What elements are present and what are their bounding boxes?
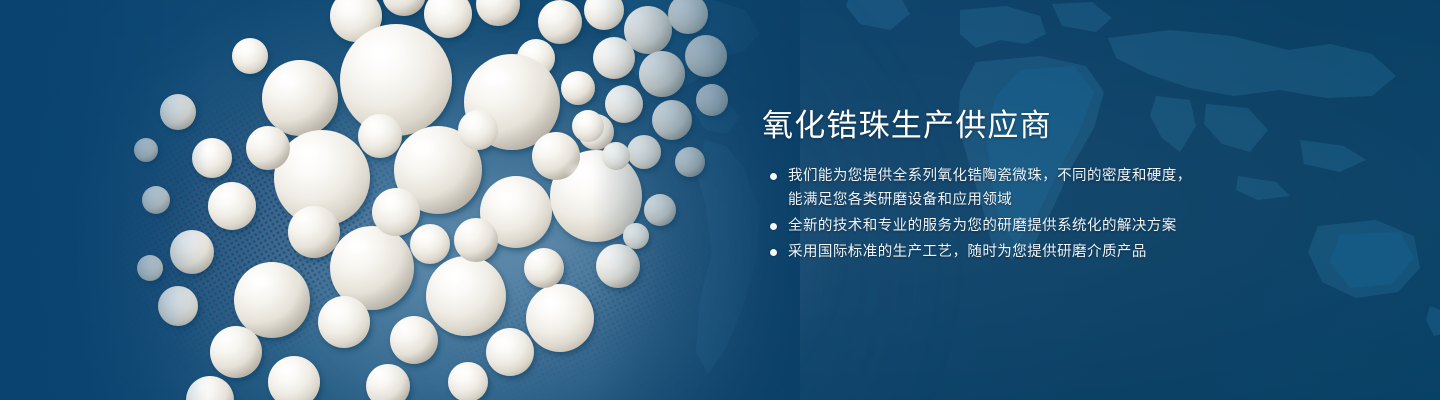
list-item-line: 能满足您各类研磨设备和应用领域 [788,188,1322,212]
banner-copy: 氧化锆珠生产供应商 我们能为您提供全系列氧化锆陶瓷微珠，不同的密度和硬度， 能满… [762,106,1322,266]
bullet-dot-icon [770,223,777,230]
zirconia-ceramic-beads-photo [0,0,800,400]
hero-banner: 氧化锆珠生产供应商 我们能为您提供全系列氧化锆陶瓷微珠，不同的密度和硬度， 能满… [0,0,1440,400]
bullet-dot-icon [770,173,777,180]
list-item-line: 采用国际标准的生产工艺，随时为您提供研磨介质产品 [788,240,1322,264]
list-item: 我们能为您提供全系列氧化锆陶瓷微珠，不同的密度和硬度， 能满足您各类研磨设备和应… [762,164,1322,212]
list-item-line: 全新的技术和专业的服务为您的研磨提供系统化的解决方案 [788,214,1322,238]
list-item: 全新的技术和专业的服务为您的研磨提供系统化的解决方案 [762,214,1322,238]
list-item: 采用国际标准的生产工艺，随时为您提供研磨介质产品 [762,240,1322,264]
list-item-line: 我们能为您提供全系列氧化锆陶瓷微珠，不同的密度和硬度， [788,164,1322,188]
bead-cluster [0,0,800,400]
feature-list: 我们能为您提供全系列氧化锆陶瓷微珠，不同的密度和硬度， 能满足您各类研磨设备和应… [762,164,1322,264]
page-title: 氧化锆珠生产供应商 [762,106,1322,146]
bullet-dot-icon [770,249,777,256]
